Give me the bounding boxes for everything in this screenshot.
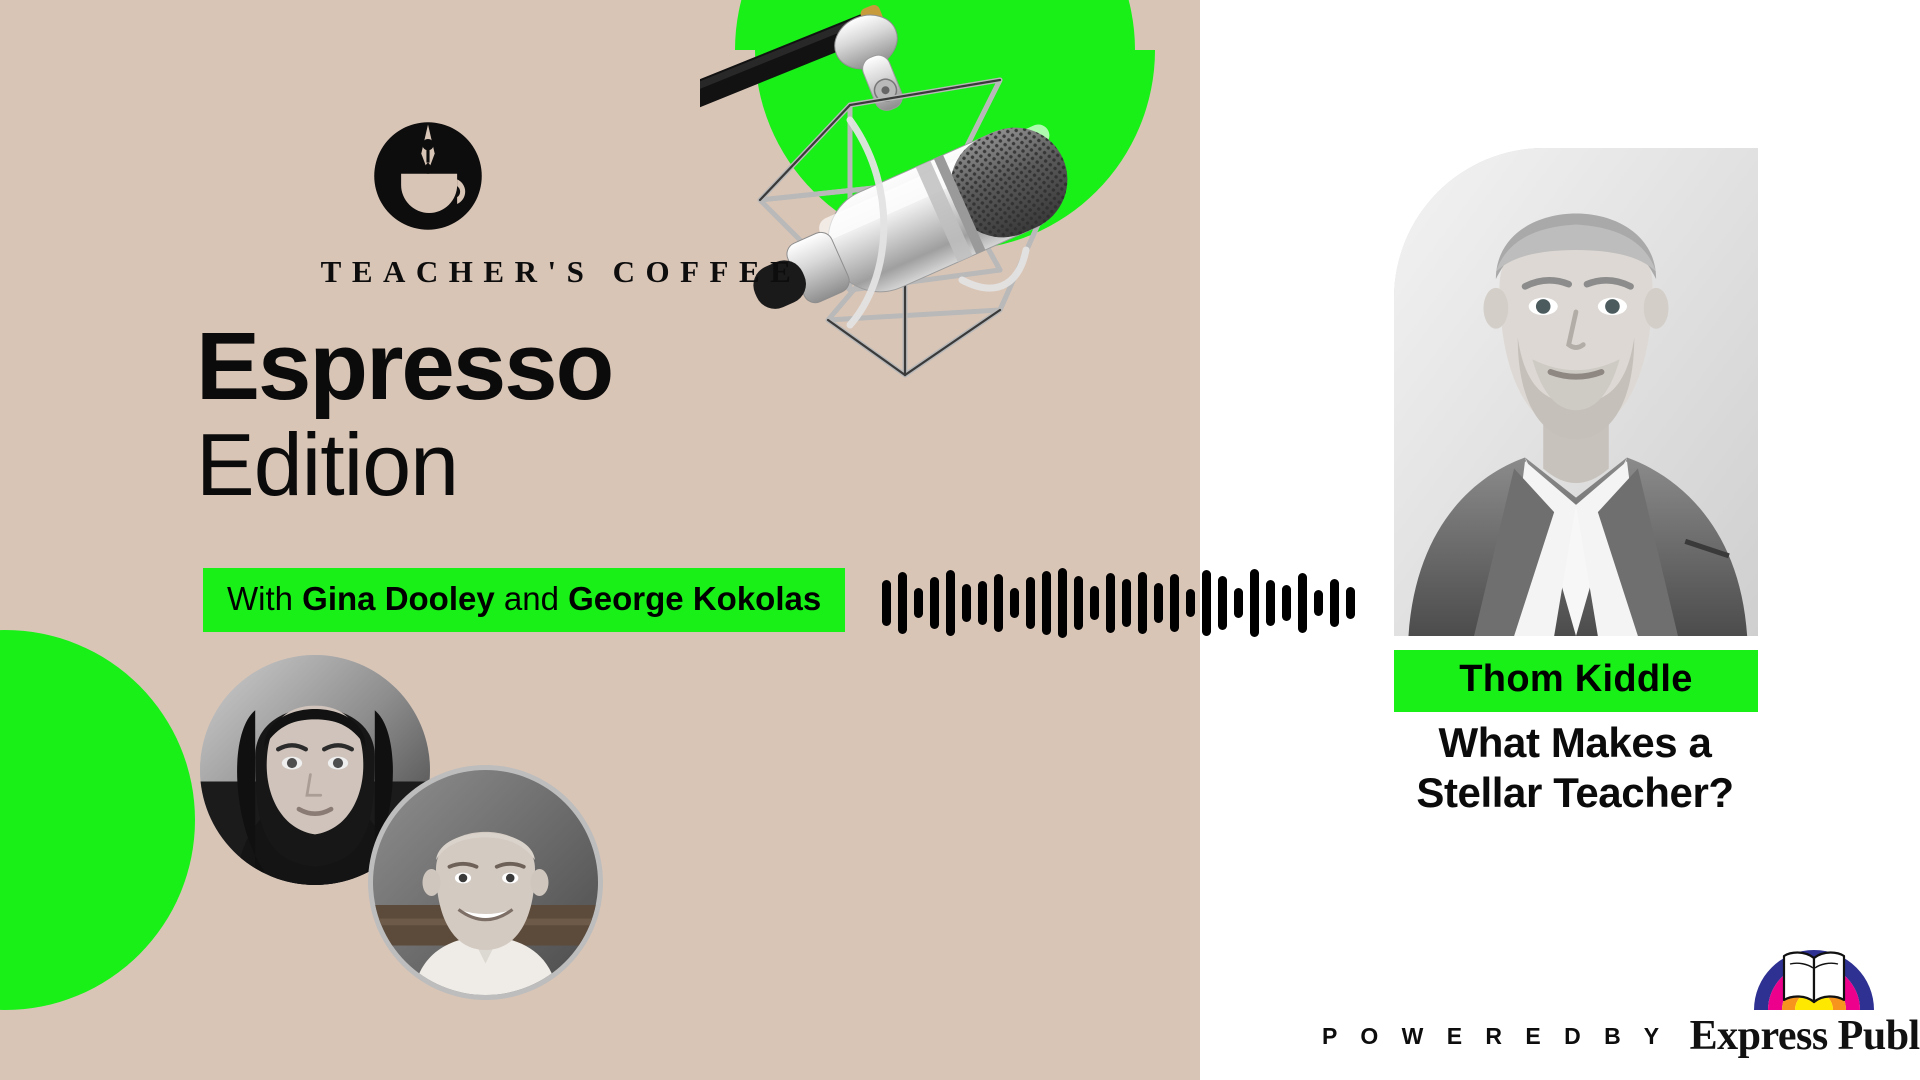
brand-block: TEACHER'S COFFEE Espresso Edition bbox=[196, 120, 916, 510]
waveform-bar bbox=[1250, 569, 1259, 637]
host-name-1: Gina Dooley bbox=[302, 580, 495, 617]
hosts-banner: With Gina Dooley and George Kokolas bbox=[203, 568, 845, 632]
publisher-name: Express Publishing bbox=[1690, 1012, 1920, 1060]
waveform-bar bbox=[946, 570, 955, 636]
express-publishing-logo: Express Publishing bbox=[1690, 1012, 1920, 1060]
waveform-bar bbox=[1170, 574, 1179, 632]
waveform-bar bbox=[930, 577, 939, 629]
waveform-bar bbox=[1106, 573, 1115, 633]
waveform-bar bbox=[994, 574, 1003, 632]
guest-name-badge: Thom Kiddle bbox=[1394, 650, 1758, 712]
waveform-bar bbox=[1074, 576, 1083, 630]
waveform-bar bbox=[1122, 579, 1131, 627]
powered-by-label: P O W E R E D B Y bbox=[1322, 1023, 1668, 1050]
waveform-bar bbox=[1010, 588, 1019, 618]
waveform-bar bbox=[1138, 572, 1147, 634]
waveform-bar bbox=[1314, 590, 1323, 616]
guest-topic-line-1: What Makes a bbox=[1340, 718, 1810, 768]
hosts-prefix: With bbox=[227, 580, 302, 617]
waveform-bar bbox=[1330, 579, 1339, 627]
hosts-conjunction: and bbox=[495, 580, 568, 617]
express-publishing-rainbow-book-icon bbox=[1750, 940, 1878, 1012]
waveform-bar bbox=[1090, 586, 1099, 620]
waveform-bar bbox=[1282, 585, 1291, 621]
powered-by-block: P O W E R E D B Y Express Publishing bbox=[1322, 1012, 1920, 1060]
waveform-bar bbox=[962, 584, 971, 622]
waveform-bar bbox=[1218, 576, 1227, 630]
waveform-bar bbox=[1186, 589, 1195, 617]
waveform-bar bbox=[1266, 580, 1275, 626]
audio-waveform-icon bbox=[882, 567, 1355, 639]
waveform-bar bbox=[914, 588, 923, 618]
waveform-bar bbox=[1202, 570, 1211, 636]
george-kokolas-avatar bbox=[368, 765, 603, 1000]
thom-kiddle-photo bbox=[1394, 148, 1758, 636]
host-name-2: George Kokolas bbox=[568, 580, 821, 617]
coffee-cup-logo-icon bbox=[372, 120, 484, 232]
brand-name: TEACHER'S COFFEE bbox=[196, 254, 916, 290]
guest-topic-line-2: Stellar Teacher? bbox=[1340, 768, 1810, 818]
waveform-bar bbox=[882, 580, 891, 626]
waveform-bar bbox=[978, 581, 987, 625]
poster-canvas: TEACHER'S COFFEE Espresso Edition With G… bbox=[0, 0, 1920, 1080]
waveform-bar bbox=[1298, 573, 1307, 633]
title-line-espresso: Espresso bbox=[196, 320, 916, 414]
guest-topic: What Makes a Stellar Teacher? bbox=[1340, 718, 1810, 817]
waveform-bar bbox=[1026, 577, 1035, 629]
waveform-bar bbox=[1234, 588, 1243, 618]
waveform-bar bbox=[1058, 568, 1067, 638]
title-line-edition: Edition bbox=[196, 420, 916, 510]
waveform-bar bbox=[1042, 571, 1051, 635]
waveform-bar bbox=[1346, 587, 1355, 619]
waveform-bar bbox=[1154, 583, 1163, 623]
waveform-bar bbox=[898, 572, 907, 634]
